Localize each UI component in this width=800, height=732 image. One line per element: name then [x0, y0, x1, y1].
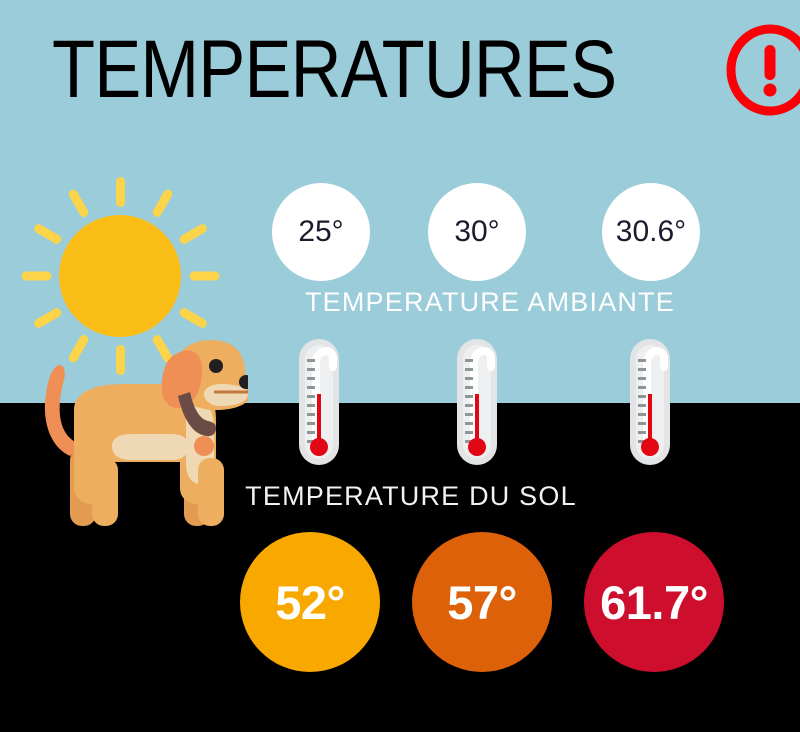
ambient-readings: 25° 30° 30.6°	[258, 183, 718, 283]
thermometer-bulb	[641, 438, 659, 456]
sun-ray	[178, 223, 208, 246]
sun-ray	[21, 272, 51, 281]
ambient-value: 25°	[298, 217, 343, 247]
ground-value: 52°	[275, 579, 345, 626]
sun-ray	[67, 188, 90, 218]
thermometer-bulb	[310, 438, 328, 456]
sun-ray	[32, 223, 62, 246]
ground-value: 61.7°	[600, 579, 708, 626]
sun-ray	[116, 177, 125, 207]
thermometer-icon	[297, 337, 341, 467]
ambient-value: 30.6°	[616, 217, 686, 247]
thermometer-icon	[628, 337, 672, 467]
sun-core	[59, 215, 181, 337]
thermometer-row	[0, 337, 800, 467]
ground-reading-circle: 57°	[412, 532, 552, 672]
ground-reading-circle: 61.7°	[584, 532, 724, 672]
ambient-reading-circle: 30°	[428, 183, 526, 281]
ambient-label: TEMPERATURE AMBIANTE	[0, 287, 800, 318]
ambient-value: 30°	[454, 217, 499, 247]
ambient-reading-circle: 25°	[272, 183, 370, 281]
ground-label: TEMPERATURE DU SOL	[0, 481, 800, 512]
ambient-reading-circle: 30.6°	[602, 183, 700, 281]
ground-value: 57°	[447, 579, 517, 626]
ground-reading-circle: 52°	[240, 532, 380, 672]
sun-ray	[151, 188, 174, 218]
sun-ray	[189, 272, 219, 281]
alert-circle-icon	[722, 22, 800, 118]
thermometer-icon	[455, 337, 499, 467]
page-title: TEMPERATURES	[52, 29, 616, 111]
header: TEMPERATURES	[0, 0, 800, 140]
temperature-infographic: TEMPERATURES	[0, 0, 800, 732]
thermometer-bulb	[468, 438, 486, 456]
ground-readings: 52° 57° 61.7°	[0, 532, 800, 672]
